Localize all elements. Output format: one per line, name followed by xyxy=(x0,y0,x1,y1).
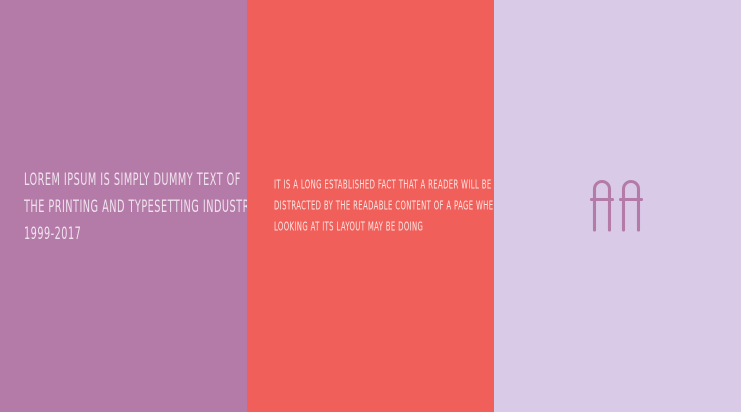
paragraph-text-block: It is a long established fact that a rea… xyxy=(274,178,474,241)
paragraph-line-1: It is a long established fact that a rea… xyxy=(274,176,434,195)
heading-line-3: 1999-2017 xyxy=(24,221,188,247)
heading-text-block: Lorem Ipsum is simply dummy text of the … xyxy=(24,170,229,251)
paragraph-line-2: distracted by the readable content of a … xyxy=(274,197,434,216)
heading-line-2: the printing and typesetting industry xyxy=(24,194,188,220)
glyph-specimen-panel xyxy=(494,0,741,412)
heading-line-1: Lorem Ipsum is simply dummy text of xyxy=(24,167,188,193)
paragraph-line-3: looking at its layout may be doing xyxy=(274,218,434,237)
letter-aa-glyph-icon xyxy=(494,163,741,243)
heading-specimen-panel: Lorem Ipsum is simply dummy text of the … xyxy=(0,0,247,412)
specimen-sheet: Lorem Ipsum is simply dummy text of the … xyxy=(0,0,741,415)
paragraph-specimen-panel: It is a long established fact that a rea… xyxy=(247,0,494,412)
